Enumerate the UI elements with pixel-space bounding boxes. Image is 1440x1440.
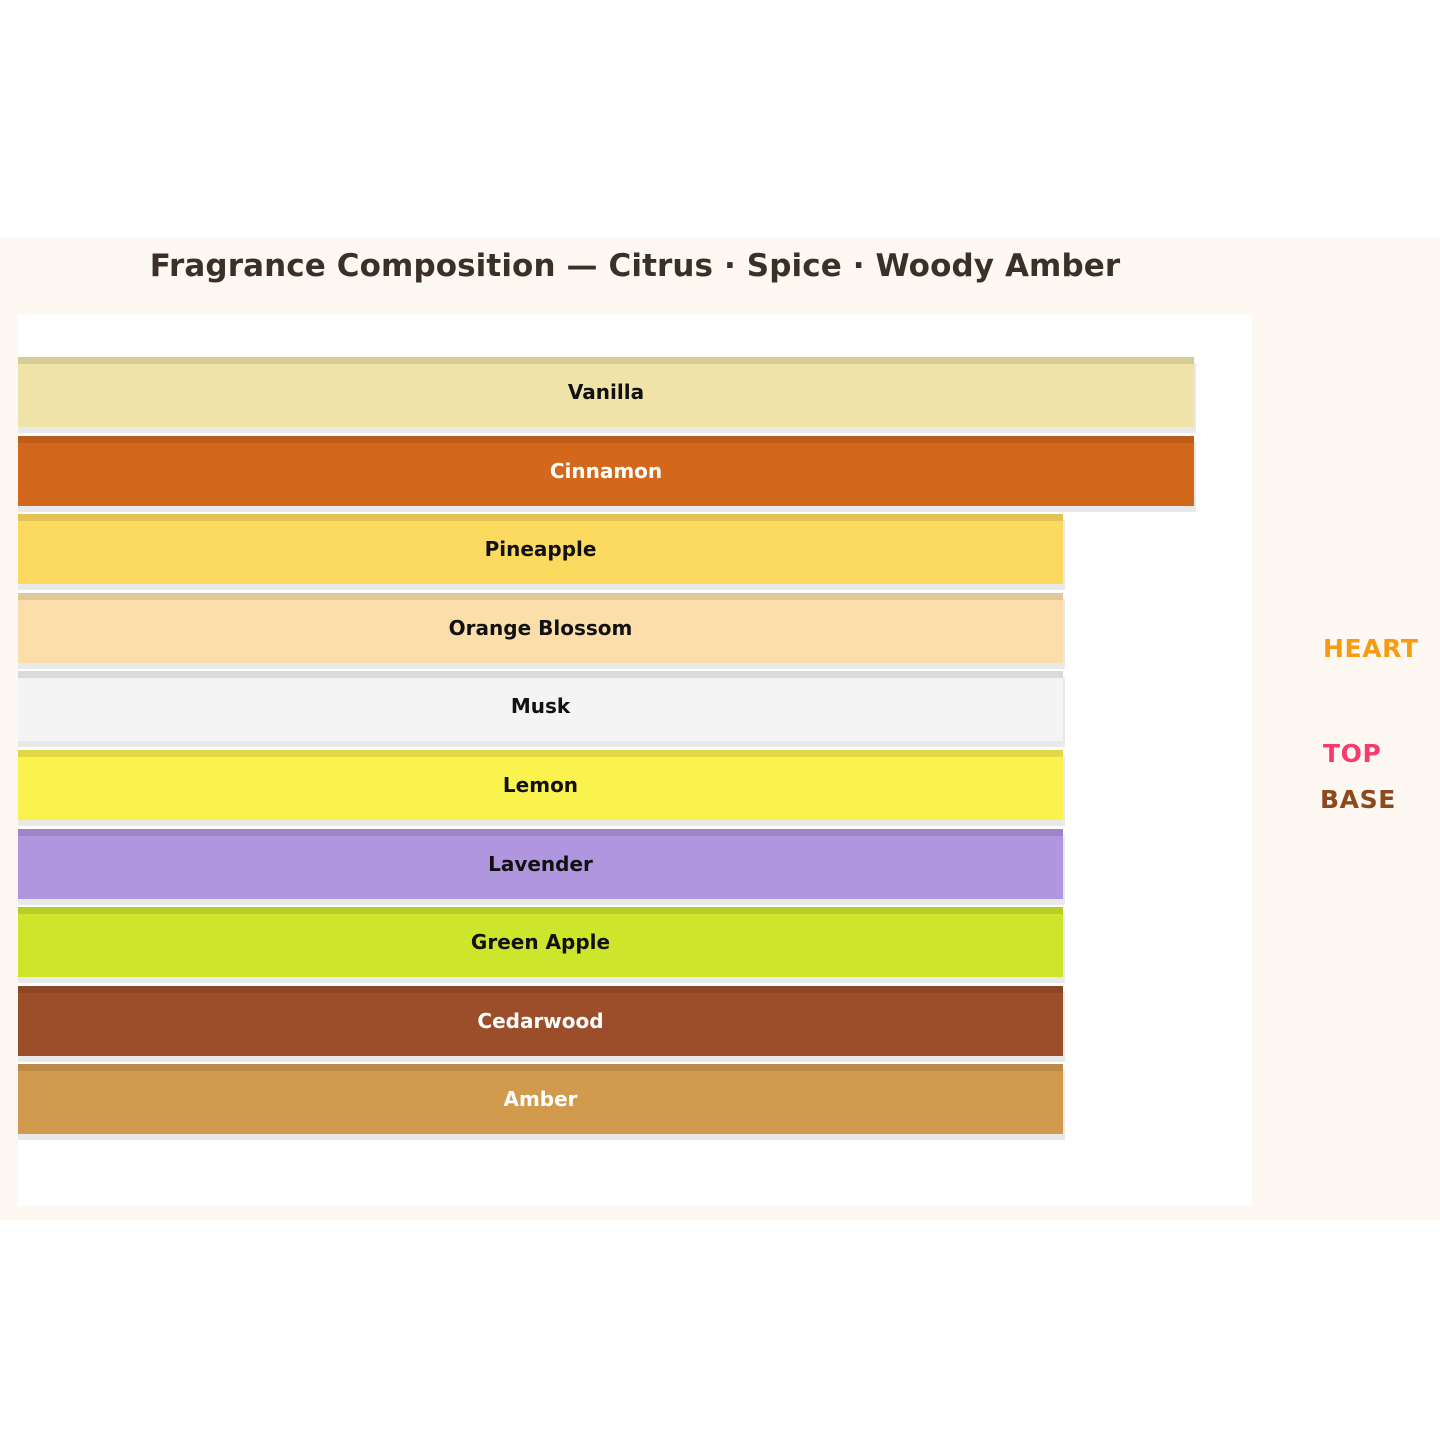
bar-amber[interactable]: [18, 1064, 1063, 1134]
bar-row[interactable]: Cinnamon: [18, 400, 1252, 478]
legend-item-heart[interactable]: HEART: [1323, 634, 1419, 663]
bar-row[interactable]: Lavender: [18, 793, 1252, 871]
plot-area: VanillaCinnamonPineappleOrange BlossomMu…: [18, 315, 1252, 1206]
bar-row[interactable]: Amber: [18, 1028, 1252, 1106]
bar-top-shading: [18, 1064, 1063, 1071]
chart-canvas: Fragrance Composition — Citrus · Spice ·…: [0, 0, 1440, 1440]
bar-top-shading: [18, 907, 1063, 914]
legend-item-top[interactable]: TOP: [1323, 739, 1381, 768]
bar-row[interactable]: Cedarwood: [18, 950, 1252, 1028]
bar-top-shading: [18, 514, 1063, 521]
bar-row[interactable]: Orange Blossom: [18, 557, 1252, 635]
bar-row[interactable]: Musk: [18, 635, 1252, 713]
bar-top-shading: [18, 357, 1194, 364]
bar-row[interactable]: Green Apple: [18, 871, 1252, 949]
bar-top-shading: [18, 750, 1063, 757]
bar-row[interactable]: Vanilla: [18, 321, 1252, 399]
bar-top-shading: [18, 986, 1063, 993]
bar-top-shading: [18, 593, 1063, 600]
legend-item-base[interactable]: BASE: [1320, 785, 1396, 814]
bar-top-shading: [18, 436, 1194, 443]
page-title: Fragrance Composition — Citrus · Spice ·…: [18, 248, 1252, 284]
bar-top-shading: [18, 829, 1063, 836]
bar-row[interactable]: Pineapple: [18, 478, 1252, 556]
bar-top-shading: [18, 671, 1063, 678]
bar-row[interactable]: Lemon: [18, 714, 1252, 792]
